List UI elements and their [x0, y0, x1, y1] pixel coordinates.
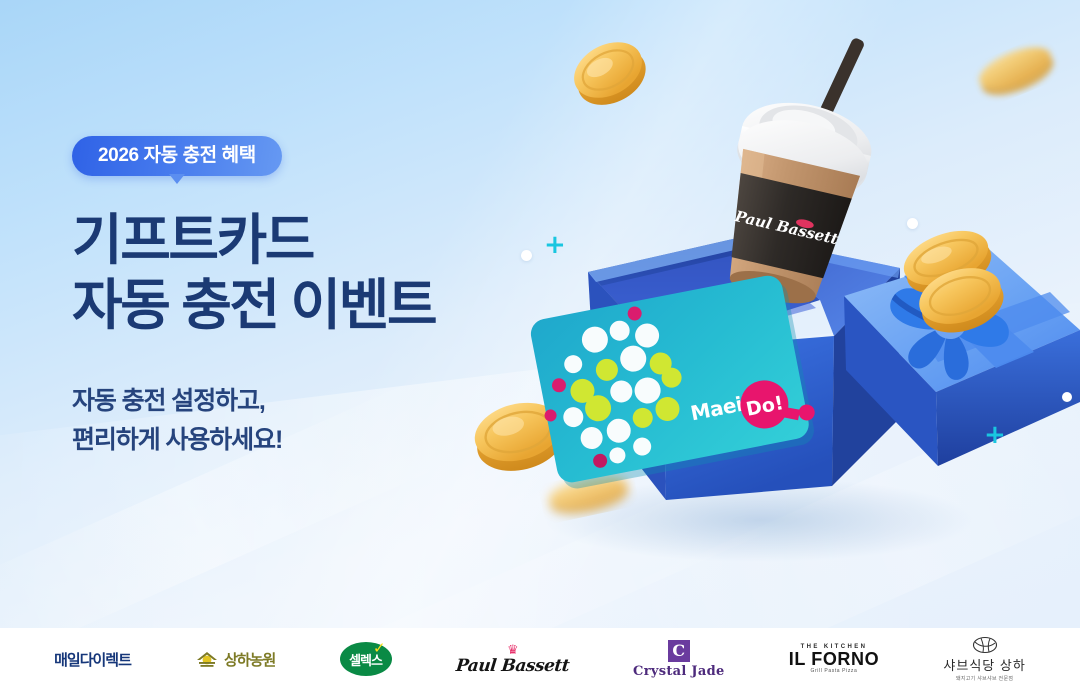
crown-icon: ♛: [507, 643, 518, 656]
brand-logo-selex[interactable]: 셀렉스 ✓: [340, 632, 392, 686]
brand-logo-il-forno[interactable]: THE KITCHEN IL FORNO Grill Pasta Pizza: [789, 632, 879, 686]
crystal-jade-mark-icon: C: [668, 640, 690, 662]
brand-label: 매일다이렉트: [54, 649, 131, 670]
brand-label: Paul Bassett: [455, 656, 570, 676]
check-icon: ✓: [373, 639, 385, 657]
promo-banner: 2026 자동 충전 혜택 기프트카드 자동 충전 이벤트 자동 충전 설정하고…: [0, 0, 1080, 690]
brand-label: 샤브식당 상하: [943, 655, 1025, 674]
brand-sub-label: 돼지고기 샤브샤브 전문점: [956, 675, 1013, 682]
brand-label: Crystal Jade: [633, 664, 725, 679]
hero-illustration: Paul Bassett: [430, 0, 1080, 628]
brand-logo-shabu-sangha[interactable]: 샤브식당 상하 돼지고기 샤브샤브 전문점: [943, 632, 1025, 686]
gold-coin: [974, 39, 1059, 104]
shabu-bowl-icon: [972, 636, 998, 654]
promo-badge: 2026 자동 충전 혜택: [72, 136, 282, 176]
sangha-house-icon: [195, 649, 219, 669]
brand-sub-label: Grill Pasta Pizza: [811, 668, 858, 674]
brand-logo-crystal-jade[interactable]: C Crystal Jade: [633, 632, 725, 686]
brand-logo-maeil-direct[interactable]: 매일다이렉트: [54, 632, 131, 686]
gold-coin: [564, 31, 655, 116]
promo-badge-label: 2026 자동 충전 혜택: [98, 145, 256, 166]
brand-logo-bar: 매일다이렉트 상하농원 셀렉스 ✓ ♛ Paul Basse: [0, 628, 1080, 690]
brand-logo-sangha-nongwon[interactable]: 상하농원: [195, 632, 275, 686]
brand-label: 상하농원: [224, 649, 275, 670]
brand-logo-paul-bassett[interactable]: ♛ Paul Bassett: [456, 632, 569, 686]
brand-label: IL FORNO: [789, 650, 879, 669]
gift-illustration-svg: Paul Bassett: [430, 0, 1080, 628]
promo-badge-tail: [169, 174, 185, 184]
